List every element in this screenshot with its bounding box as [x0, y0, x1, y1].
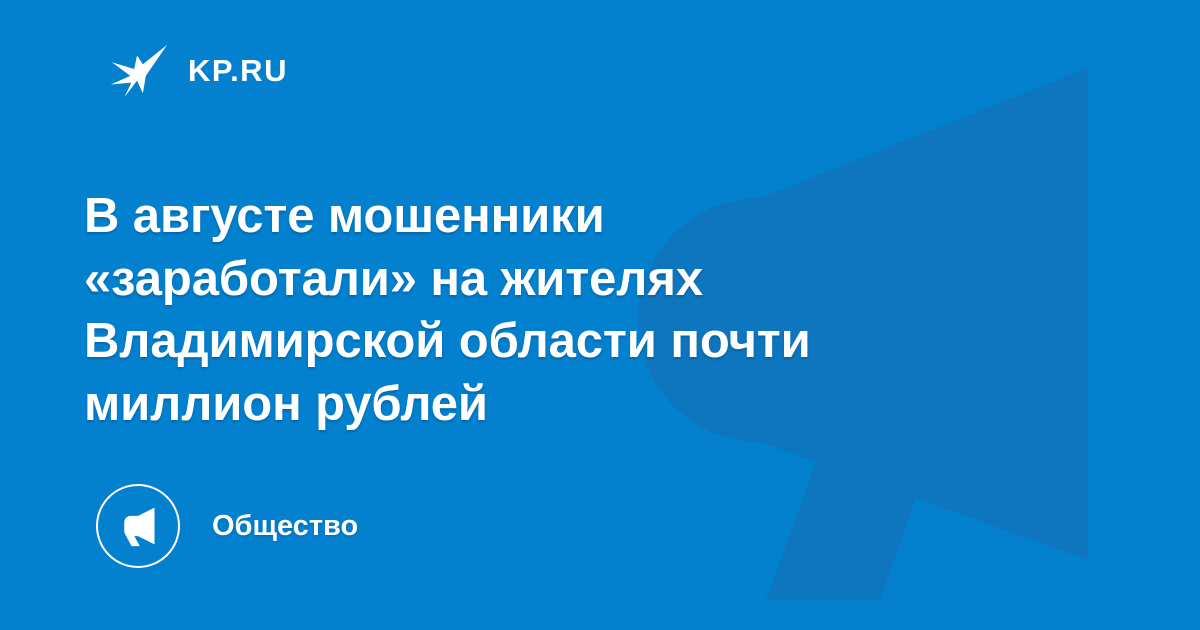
headline-line-2: «заработали» на жителях — [84, 248, 984, 311]
rubric-label: Общество — [212, 512, 358, 541]
rubric-icon-circle — [96, 484, 180, 568]
headline-line-4: миллион рублей — [84, 373, 984, 436]
rubric-badge[interactable]: Общество — [96, 483, 358, 569]
page-title: В августе мошенники «заработали» на жите… — [84, 185, 984, 436]
brand-logo[interactable]: KP.RU — [108, 38, 288, 102]
brand-name: KP.RU — [188, 55, 288, 86]
megaphone-icon — [116, 504, 160, 548]
social-share-card: KP.RU В августе мошенники «заработали» н… — [0, 0, 1200, 630]
swallow-bird-icon — [108, 39, 170, 101]
headline-line-1: В августе мошенники — [84, 185, 984, 248]
headline-line-3: Владимирской области почти — [84, 310, 984, 373]
